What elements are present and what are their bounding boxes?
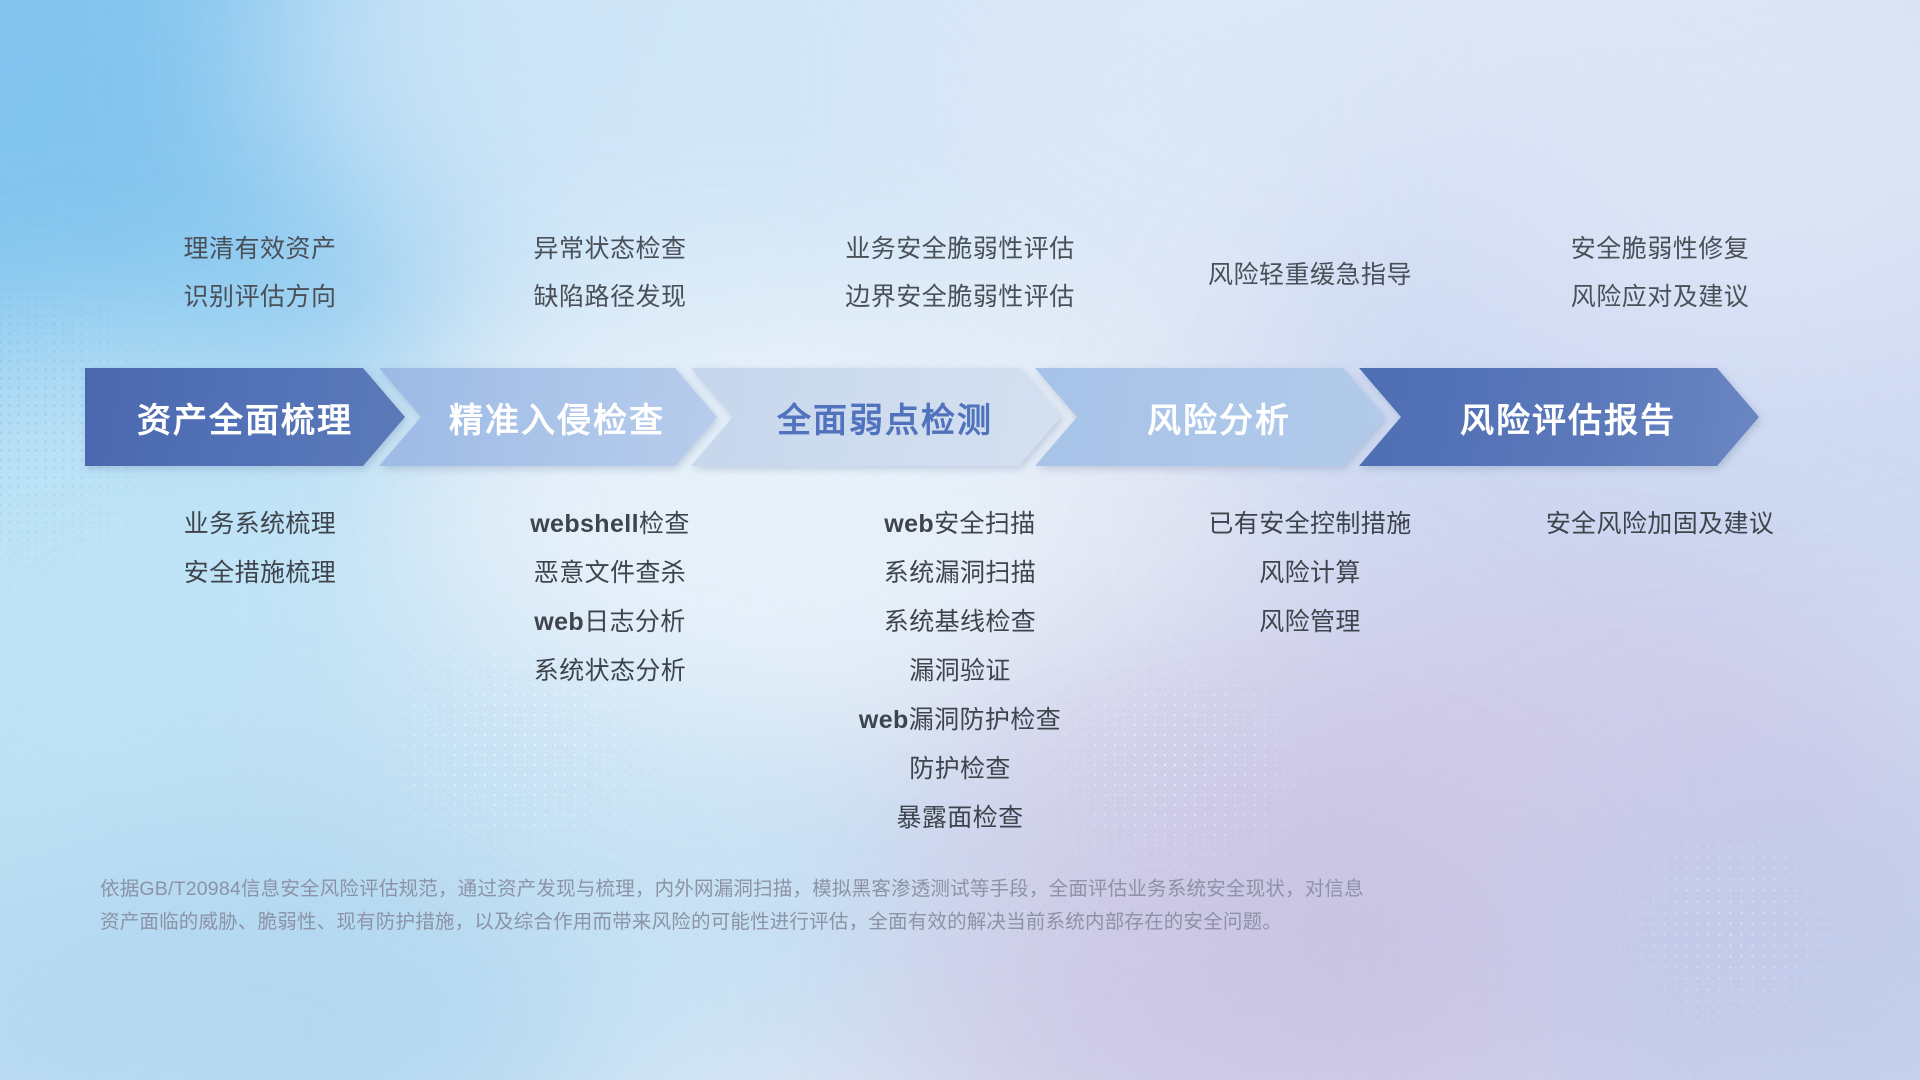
top-outcome-item: 异常状态检查 [533,225,686,273]
activity-en: web [859,706,909,734]
stage-arrow-risk-analysis[interactable]: 风险分析 [1035,368,1385,466]
activities-intrusion-check: webshell检查 恶意文件查杀 web日志分析 系统状态分析 [435,500,785,843]
activity-item: 业务系统梳理 [184,500,336,549]
activity-zh: 漏洞防护检查 [909,706,1061,734]
activity-zh: 暴露面检查 [896,804,1023,832]
activity-en: webshell [530,510,639,538]
activity-zh: 业务系统梳理 [184,510,336,538]
activities-weakness-detection: web安全扫描 系统漏洞扫描 系统基线检查 漏洞验证 web漏洞防护检查 防护检… [785,500,1135,843]
top-outcomes-weakness-detection: 业务安全脆弱性评估 边界安全脆弱性评估 [785,225,1135,335]
top-outcome-item: 业务安全脆弱性评估 [845,225,1075,273]
activity-item: 风险管理 [1259,598,1361,647]
activities-asset-inventory: 业务系统梳理 安全措施梳理 [85,500,435,843]
activity-zh: 风险管理 [1259,608,1361,636]
top-outcomes-intrusion-check: 异常状态检查 缺陷路径发现 [435,225,785,335]
activity-en: web [884,510,934,538]
top-outcomes-row: 理清有效资产 识别评估方向 异常状态检查 缺陷路径发现 业务安全脆弱性评估 边界… [85,225,1835,335]
activities-risk-analysis: 已有安全控制措施 风险计算 风险管理 [1135,500,1485,843]
stage-arrow-label: 资产全面梳理 [137,393,353,442]
diagram-content: 理清有效资产 识别评估方向 异常状态检查 缺陷路径发现 业务安全脆弱性评估 边界… [0,0,1920,1080]
activity-item: 暴露面检查 [896,794,1023,843]
activity-zh: 恶意文件查杀 [534,559,686,587]
top-outcomes-assessment-report: 安全脆弱性修复 风险应对及建议 [1485,225,1835,335]
top-outcome-item: 缺陷路径发现 [533,273,686,321]
activity-item: 恶意文件查杀 [534,549,686,598]
activity-item: 安全风险加固及建议 [1546,500,1775,549]
activity-zh: 已有安全控制措施 [1208,510,1411,538]
activity-zh: 系统基线检查 [884,608,1036,636]
top-outcome-item: 风险应对及建议 [1571,273,1750,321]
activities-assessment-report: 安全风险加固及建议 [1485,500,1835,843]
stage-arrow-asset-inventory[interactable]: 资产全面梳理 [85,368,405,466]
stage-arrow-label: 全面弱点检测 [759,393,993,442]
activity-zh: 安全扫描 [934,510,1036,538]
top-outcomes-asset-inventory: 理清有效资产 识别评估方向 [85,225,435,335]
slide-canvas: 理清有效资产 识别评估方向 异常状态检查 缺陷路径发现 业务安全脆弱性评估 边界… [0,0,1920,1080]
top-outcome-item: 识别评估方向 [183,273,336,321]
activity-item: 已有安全控制措施 [1208,500,1411,549]
top-outcomes-risk-analysis: 风险轻重缓急指导 [1135,225,1485,335]
footer-line: 资产面临的威胁、脆弱性、现有防护措施，以及综合作用而带来风险的可能性进行评估，全… [100,906,1640,939]
top-outcome-item: 风险轻重缓急指导 [1208,251,1412,299]
activity-item: 防护检查 [909,745,1011,794]
top-outcome-item: 安全脆弱性修复 [1571,225,1750,273]
activity-item: 系统基线检查 [884,598,1036,647]
activity-zh: 安全风险加固及建议 [1546,510,1775,538]
footer-line: 依据GB/T20984信息安全风险评估规范，通过资产发现与梳理，内外网漏洞扫描，… [100,873,1640,906]
activity-item: web日志分析 [534,598,685,647]
stage-arrow-assessment-report[interactable]: 风险评估报告 [1359,368,1759,466]
activity-zh: 系统状态分析 [534,657,686,685]
activity-item: webshell检查 [530,500,690,549]
activity-zh: 风险计算 [1259,559,1361,587]
stage-arrow-label: 风险分析 [1129,393,1291,442]
activity-item: 风险计算 [1259,549,1361,598]
stage-arrow-intrusion-check[interactable]: 精准入侵检查 [379,368,717,466]
bottom-activities-row: 业务系统梳理 安全措施梳理 webshell检查 恶意文件查杀 web日志分析 … [85,500,1835,843]
activity-item: web漏洞防护检查 [859,696,1061,745]
activity-zh: 防护检查 [909,755,1011,783]
stage-arrow-label: 风险评估报告 [1442,393,1676,442]
activity-item: 漏洞验证 [909,647,1011,696]
activity-item: 系统漏洞扫描 [884,549,1036,598]
activity-item: web安全扫描 [884,500,1035,549]
stage-arrow-label: 精准入侵检查 [431,393,665,442]
process-arrow-band: 资产全面梳理 精准入侵检查 全面弱点检测 风险分析 风险评估报告 [85,368,1837,466]
activity-item: 安全措施梳理 [184,549,336,598]
activity-zh: 检查 [639,510,690,538]
activity-zh: 系统漏洞扫描 [884,559,1036,587]
top-outcome-item: 理清有效资产 [183,225,336,273]
activity-zh: 日志分析 [584,608,686,636]
activity-item: 系统状态分析 [534,647,686,696]
activity-zh: 安全措施梳理 [184,559,336,587]
footer-description: 依据GB/T20984信息安全风险评估规范，通过资产发现与梳理，内外网漏洞扫描，… [100,873,1640,939]
stage-arrow-weakness-detection[interactable]: 全面弱点检测 [691,368,1061,466]
activity-zh: 漏洞验证 [909,657,1011,685]
top-outcome-item: 边界安全脆弱性评估 [845,273,1075,321]
activity-en: web [534,608,584,636]
